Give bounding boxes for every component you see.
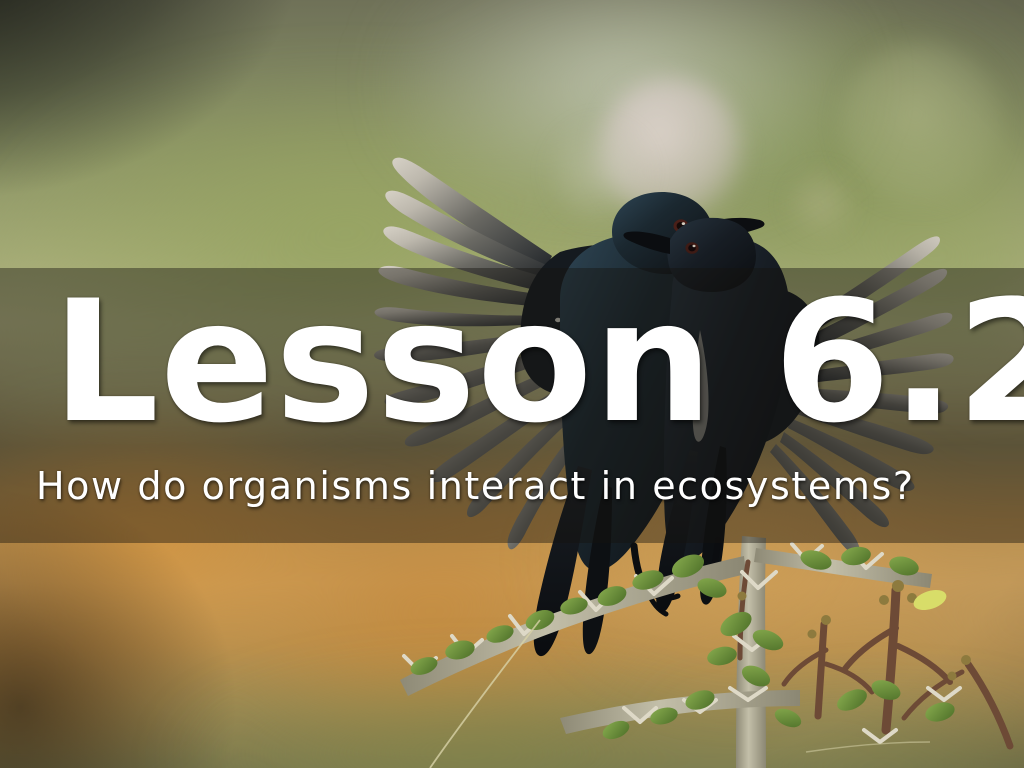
grass-strand-2 <box>806 742 930 752</box>
slide-text-block: Lesson 6.2 How do organisms interact in … <box>0 268 1024 543</box>
presentation-slide: Lesson 6.2 How do organisms interact in … <box>0 0 1024 768</box>
slide-title: Lesson 6.2 <box>52 278 1024 446</box>
branch-arch-left <box>400 556 746 696</box>
branch-yellow-leaf <box>911 586 949 614</box>
slide-subtitle: How do organisms interact in ecosystems? <box>36 466 915 508</box>
